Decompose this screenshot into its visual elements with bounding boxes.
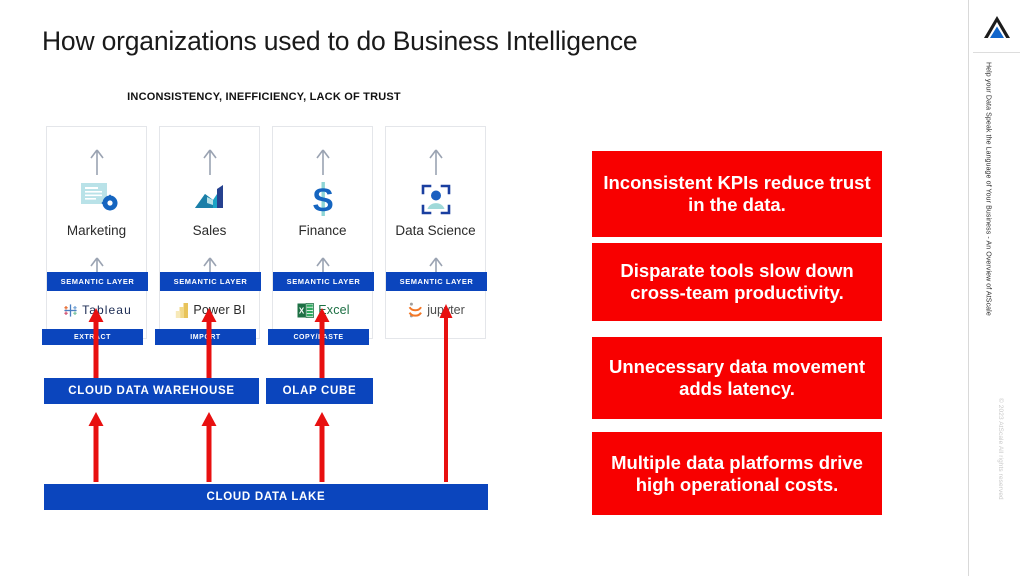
tool-jupyter: jupyter [386, 291, 487, 329]
svg-text:S: S [312, 182, 333, 218]
page-title: How organizations used to do Business In… [42, 26, 862, 57]
deck-title: Help your Data Speak the Language of You… [983, 62, 992, 392]
data-science-person-focus-icon [415, 180, 457, 220]
department-label: Finance [273, 223, 372, 238]
department-label: Sales [160, 223, 259, 238]
tableau-logo-icon [63, 303, 78, 318]
arrow-up-icon [316, 149, 330, 175]
semantic-layer-bar-data-science: SEMANTIC LAYER [386, 272, 487, 291]
red-arrow-up-copy-paste [314, 308, 330, 378]
jupyter-logo-icon [408, 302, 423, 318]
arrow-up-icon [429, 149, 443, 175]
red-arrow-up-extract [88, 308, 104, 378]
department-label: Data Science [386, 223, 485, 238]
power-bi-logo-icon [175, 302, 189, 319]
marketing-document-gear-icon [76, 180, 118, 220]
callout-inconsistent-kpis: Inconsistent KPIs reduce trust in the da… [592, 151, 882, 237]
department-label: Marketing [47, 223, 146, 238]
finance-dollar-sign-icon: S [302, 180, 344, 220]
red-arrow-up-import [201, 308, 217, 378]
red-arrow-up-lake-to-warehouse-1 [88, 412, 104, 482]
slide-canvas: How organizations used to do Business In… [0, 0, 1024, 576]
atscale-mountain-logo-icon [982, 14, 1012, 40]
right-rail: Help your Data Speak the Language of You… [968, 0, 1024, 576]
callout-multiple-platforms: Multiple data platforms drive high opera… [592, 432, 882, 515]
callout-disparate-tools: Disparate tools slow down cross-team pro… [592, 243, 882, 321]
cloud-data-warehouse-bar: CLOUD DATA WAREHOUSE [44, 378, 259, 404]
red-arrow-up-lake-to-olap [314, 412, 330, 482]
copyright-notice: © 2023 AtScale All rights reserved [997, 398, 1004, 548]
sales-area-chart-icon [189, 180, 231, 220]
semantic-layer-bar-finance: SEMANTIC LAYER [273, 272, 374, 291]
red-arrow-up-lake-to-warehouse-2 [201, 412, 217, 482]
olap-cube-bar: OLAP CUBE [266, 378, 373, 404]
red-arrow-up-lake-to-data-science [438, 304, 454, 482]
excel-logo-icon: X [297, 302, 314, 319]
svg-text:X: X [299, 306, 305, 315]
arrow-up-icon [90, 149, 104, 175]
semantic-layer-bar-marketing: SEMANTIC LAYER [47, 272, 148, 291]
bi-architecture-diagram: INCONSISTENCY, INEFFICIENCY, LACK OF TRU… [42, 86, 488, 516]
semantic-layer-bar-sales: SEMANTIC LAYER [160, 272, 261, 291]
cloud-data-lake-bar: CLOUD DATA LAKE [44, 484, 488, 510]
arrow-up-icon [203, 149, 217, 175]
diagram-headline: INCONSISTENCY, INEFFICIENCY, LACK OF TRU… [94, 90, 434, 106]
rail-divider [973, 52, 1020, 53]
callout-unnecessary-movement: Unnecessary data movement adds latency. [592, 337, 882, 419]
column-data-science: Data Science SEMANTIC LAYER jupyter [385, 126, 486, 339]
